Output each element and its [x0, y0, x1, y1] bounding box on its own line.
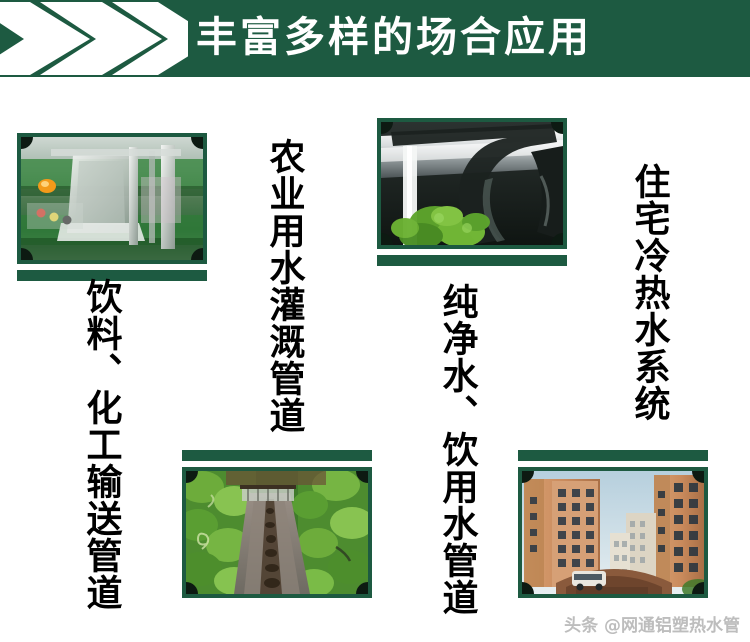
photo-image-residential-buildings	[522, 471, 704, 594]
slide-root: 丰富多样的场合应用	[0, 0, 750, 642]
photo-shadow-bar	[518, 450, 708, 461]
photo-shadow-bar	[377, 255, 567, 266]
chevron-right-icon	[0, 0, 188, 77]
photo-residential-buildings	[518, 467, 708, 598]
watermark-text: 头条 @网通铝塑热水管	[564, 611, 740, 636]
photo-image-industrial-machine	[21, 137, 203, 260]
caption-residential-hot-cold: 住宅冷热水系统	[630, 163, 667, 422]
photo-shadow-bar	[182, 450, 372, 461]
photo-greenhouse-irrigation	[182, 467, 372, 598]
caption-pure-drinking-water: 纯净水、饮用水管道	[438, 283, 475, 616]
caption-agriculture-irrigation: 农业用水灌溉管道	[265, 138, 302, 434]
page-title: 丰富多样的场合应用	[196, 0, 592, 77]
caption-beverage-chemical: 饮料、化工输送管道	[82, 278, 119, 611]
header-banner: 丰富多样的场合应用	[0, 0, 750, 77]
photo-image-greenhouse-irrigation	[186, 471, 368, 594]
photo-image-faucet-water-lettuce	[381, 122, 563, 245]
photo-faucet-water-lettuce	[377, 118, 567, 249]
photo-industrial-machine	[17, 133, 207, 264]
